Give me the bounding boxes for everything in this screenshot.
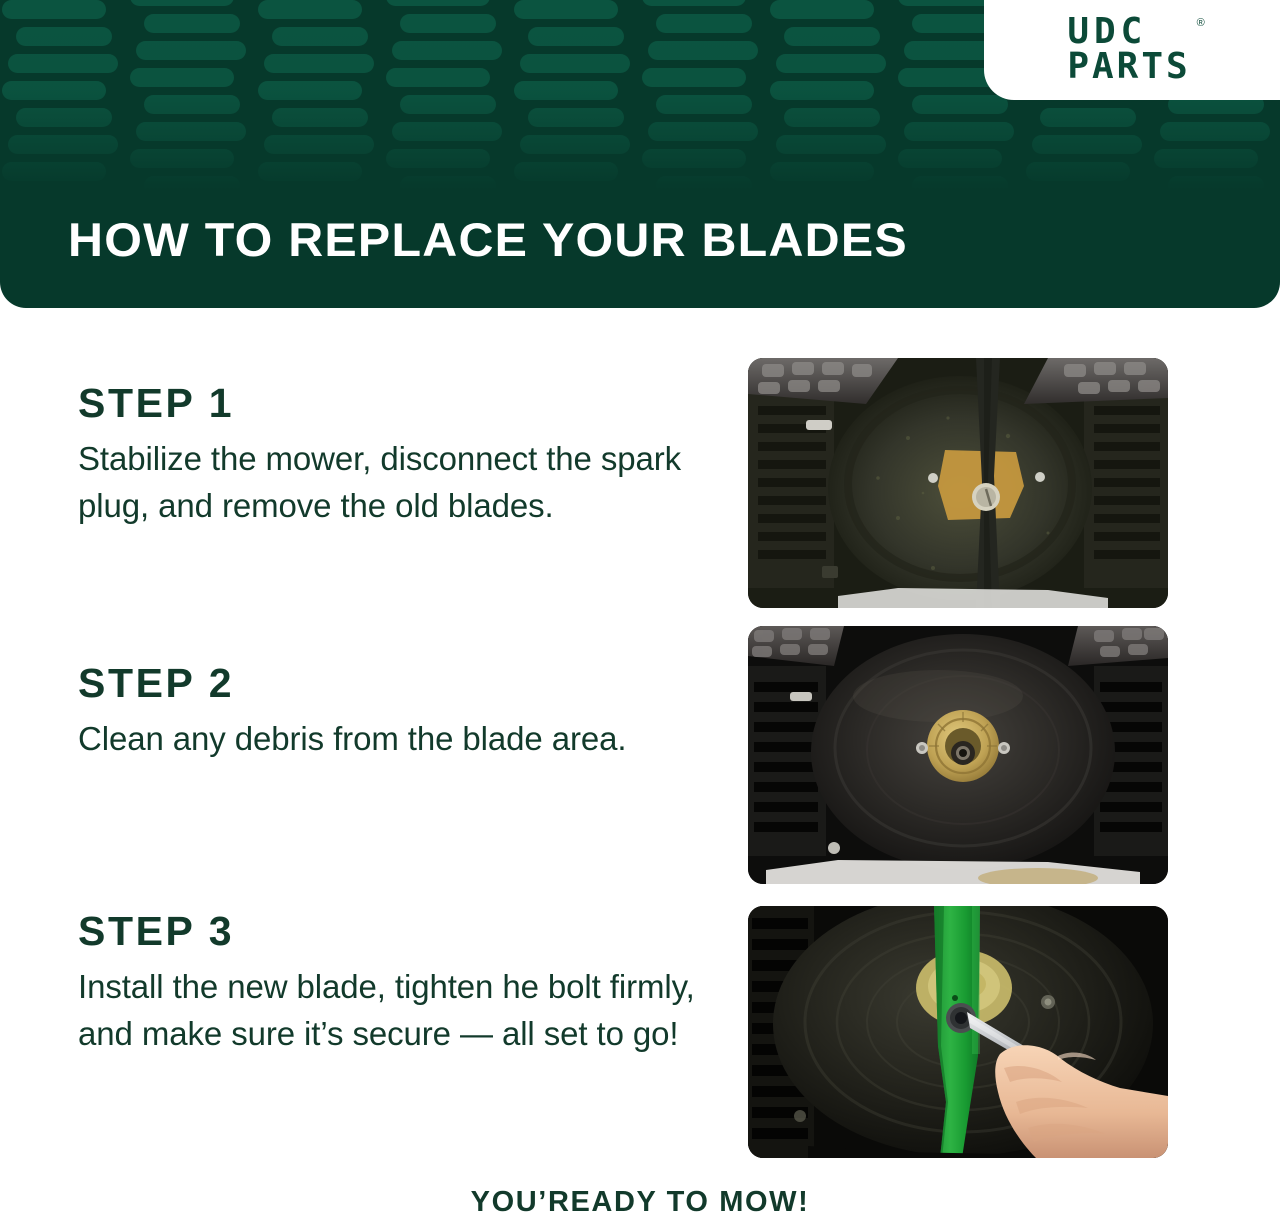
brand-logo[interactable]: UDC PARTS ® bbox=[984, 0, 1280, 100]
pattern-bar bbox=[514, 81, 618, 100]
pattern-bar bbox=[656, 176, 752, 195]
pattern-bar bbox=[904, 122, 1014, 141]
pattern-bar bbox=[400, 95, 496, 114]
pattern-bar bbox=[2, 81, 106, 100]
pattern-bar bbox=[386, 68, 490, 87]
pattern-bar bbox=[2, 0, 106, 19]
pattern-bar bbox=[16, 189, 112, 200]
pattern-bar bbox=[912, 176, 1008, 195]
step-image-3 bbox=[748, 906, 1168, 1158]
pattern-bar bbox=[1032, 135, 1142, 154]
pattern-bar bbox=[648, 122, 758, 141]
pattern-bar bbox=[2, 162, 106, 181]
pattern-bar bbox=[770, 162, 874, 181]
pattern-bar bbox=[514, 162, 618, 181]
pattern-bar bbox=[784, 27, 880, 46]
pattern-bar bbox=[264, 54, 374, 73]
pattern-bar bbox=[16, 108, 112, 127]
pattern-bar bbox=[130, 0, 234, 6]
step-title-3: STEP 3 bbox=[78, 908, 728, 955]
step-body-3: Install the new blade, tighten he bolt f… bbox=[78, 964, 728, 1058]
pattern-bar bbox=[264, 135, 374, 154]
pattern-bar bbox=[136, 122, 246, 141]
pattern-bar bbox=[272, 108, 368, 127]
pattern-bar bbox=[136, 41, 246, 60]
pattern-bar bbox=[528, 108, 624, 127]
pattern-bar bbox=[528, 189, 624, 200]
pattern-bar bbox=[392, 41, 502, 60]
pattern-bar bbox=[514, 0, 618, 19]
clean-mower-deck-illustration bbox=[748, 626, 1168, 884]
pattern-bar bbox=[258, 81, 362, 100]
footer-cta: YOU’READY TO MOW! bbox=[0, 1186, 1280, 1219]
pattern-bar bbox=[1160, 122, 1270, 141]
pattern-bar bbox=[642, 68, 746, 87]
pattern-bar bbox=[776, 135, 886, 154]
pattern-bar bbox=[400, 176, 496, 195]
logo-inner: UDC PARTS ® bbox=[1067, 15, 1196, 85]
step-item-2: STEP 2 Clean any debris from the blade a… bbox=[78, 660, 728, 763]
pattern-bar bbox=[1168, 176, 1264, 195]
pattern-bar bbox=[1154, 149, 1258, 168]
pattern-bar bbox=[528, 27, 624, 46]
install-new-blade-wrench-illustration bbox=[748, 906, 1168, 1158]
pattern-bar bbox=[898, 149, 1002, 168]
pattern-bar bbox=[258, 162, 362, 181]
pattern-bar bbox=[1040, 189, 1136, 200]
pattern-bar bbox=[258, 0, 362, 19]
step-item-3: STEP 3 Install the new blade, tighten he… bbox=[78, 908, 728, 1058]
pattern-bar bbox=[144, 95, 240, 114]
pattern-bar bbox=[770, 81, 874, 100]
pattern-bar bbox=[392, 122, 502, 141]
pattern-bar bbox=[144, 176, 240, 195]
pattern-bar bbox=[642, 0, 746, 6]
step-body-2: Clean any debris from the blade area. bbox=[78, 716, 728, 763]
step-title-2: STEP 2 bbox=[78, 660, 728, 707]
pattern-bar bbox=[770, 0, 874, 19]
pattern-bar bbox=[144, 14, 240, 33]
pattern-bar bbox=[648, 41, 758, 60]
pattern-bar bbox=[8, 135, 118, 154]
pattern-bar bbox=[784, 189, 880, 200]
pattern-bar bbox=[656, 95, 752, 114]
step-title-1: STEP 1 bbox=[78, 380, 728, 427]
pattern-bar bbox=[912, 95, 1008, 114]
pattern-bar bbox=[520, 135, 630, 154]
page-title: HOW TO REPLACE YOUR BLADES bbox=[68, 212, 908, 267]
logo-line-udc: UDC bbox=[1067, 15, 1190, 50]
pattern-bar bbox=[130, 68, 234, 87]
pattern-bar bbox=[520, 54, 630, 73]
pattern-bar bbox=[272, 27, 368, 46]
pattern-bar bbox=[1026, 162, 1130, 181]
pattern-bar bbox=[1040, 108, 1136, 127]
pattern-bar bbox=[400, 14, 496, 33]
pattern-bar bbox=[130, 149, 234, 168]
pattern-bar bbox=[16, 27, 112, 46]
infographic-page: HOW TO REPLACE YOUR BLADES UDC PARTS ® S… bbox=[0, 0, 1280, 1226]
step-item-1: STEP 1 Stabilize the mower, disconnect t… bbox=[78, 380, 728, 530]
step-image-2 bbox=[748, 626, 1168, 884]
pattern-bar bbox=[656, 14, 752, 33]
registered-trademark-icon: ® bbox=[1197, 17, 1205, 29]
step-image-1 bbox=[748, 358, 1168, 608]
pattern-bar bbox=[8, 54, 118, 73]
mower-deck-old-blade-illustration bbox=[748, 358, 1168, 608]
pattern-bar bbox=[776, 54, 886, 73]
step-body-1: Stabilize the mower, disconnect the spar… bbox=[78, 436, 728, 530]
pattern-bar bbox=[784, 108, 880, 127]
pattern-bar bbox=[642, 149, 746, 168]
pattern-bar bbox=[272, 189, 368, 200]
pattern-bar bbox=[386, 0, 490, 6]
logo-line-parts: PARTS bbox=[1067, 50, 1190, 85]
header-banner: HOW TO REPLACE YOUR BLADES UDC PARTS ® bbox=[0, 0, 1280, 308]
pattern-bar bbox=[386, 149, 490, 168]
